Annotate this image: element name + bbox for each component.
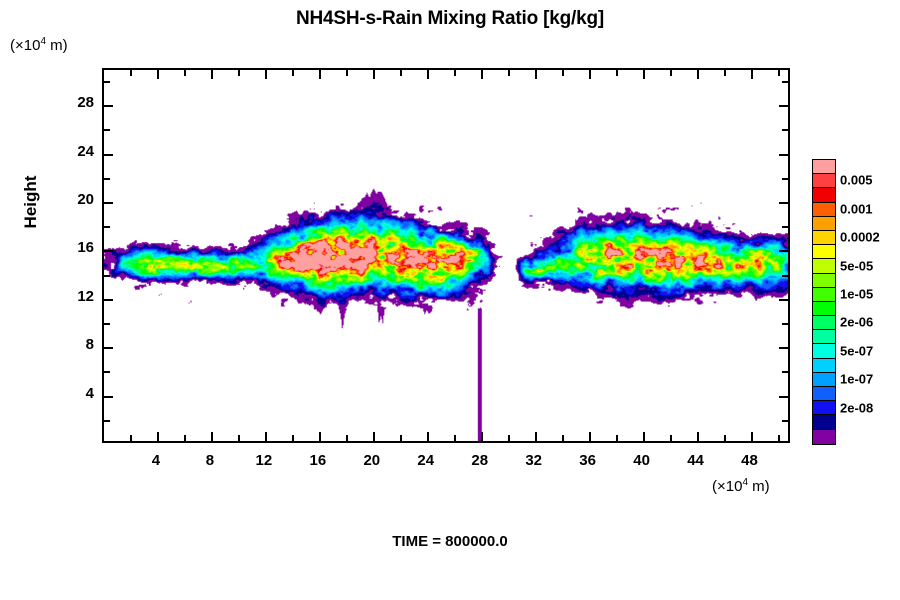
colorbar-tick-label: 5e-07 [840, 343, 873, 358]
y-axis-tick-labels: 481216202428 [52, 68, 94, 443]
x-axis-tick-minor-bottom [778, 435, 780, 441]
x-axis-tick-major [427, 70, 429, 79]
colorbar-band [813, 274, 835, 288]
x-axis-tick-major [751, 70, 753, 79]
x-axis-tick-minor-bottom [616, 435, 618, 441]
y-axis-tick-minor [104, 323, 110, 325]
x-axis-tick-labels: 4812162024283236404448 [102, 452, 790, 474]
colorbar-tick-label: 0.005 [840, 173, 873, 188]
x-axis-tick-major [265, 70, 267, 79]
x-axis-tick-major-bottom [535, 432, 537, 441]
colorbar-band [813, 344, 835, 358]
colorbar-band [813, 430, 835, 444]
colorbar-tick-label: 0.001 [840, 201, 873, 216]
y-axis-tick-major [104, 396, 113, 398]
y-axis-tick-minor-right [782, 129, 788, 131]
colorbar-band [813, 203, 835, 217]
x-axis-tick-minor [292, 70, 294, 76]
y-axis-tick-major [104, 250, 113, 252]
y-unit-prefix: (×10 [10, 37, 40, 54]
x-axis-tick-major-bottom [481, 432, 483, 441]
x-axis-tick-minor [616, 70, 618, 76]
x-axis-tick-minor-bottom [508, 435, 510, 441]
x-axis-tick-label: 36 [579, 452, 596, 469]
y-axis-tick-major [104, 299, 113, 301]
contour-plot-canvas [104, 70, 788, 441]
plot-frame [102, 68, 790, 443]
colorbar-band [813, 231, 835, 245]
colorbar-tick-label: 2e-08 [840, 400, 873, 415]
y-axis-tick-label: 16 [77, 239, 94, 256]
x-axis-tick-major-bottom [589, 432, 591, 441]
x-axis-tick-major-bottom [427, 432, 429, 441]
x-axis-tick-minor-bottom [400, 435, 402, 441]
y-axis-tick-label: 24 [77, 143, 94, 160]
x-axis-tick-minor [562, 70, 564, 76]
colorbar-labels: 0.0050.0010.00025e-051e-052e-065e-071e-0… [840, 159, 900, 445]
colorbar-tick-label: 2e-06 [840, 315, 873, 330]
x-axis-tick-minor [346, 70, 348, 76]
x-axis-tick-minor [454, 70, 456, 76]
x-axis-tick-label: 28 [471, 452, 488, 469]
x-axis-tick-minor-bottom [292, 435, 294, 441]
y-axis-tick-label: 28 [77, 94, 94, 111]
y-axis-tick-minor-right [782, 371, 788, 373]
y-axis-tick-label: 8 [86, 336, 94, 353]
y-axis-tick-major-right [779, 105, 788, 107]
colorbar-tick-label: 1e-05 [840, 286, 873, 301]
x-axis-tick-major [589, 70, 591, 79]
y-axis-tick-minor [104, 129, 110, 131]
x-axis-tick-major-bottom [643, 432, 645, 441]
y-axis-tick-minor-right [782, 420, 788, 422]
x-axis-tick-label: 12 [256, 452, 273, 469]
x-axis-tick-minor [238, 70, 240, 76]
x-axis-tick-major-bottom [157, 432, 159, 441]
colorbar-band [813, 316, 835, 330]
x-axis-tick-major [211, 70, 213, 79]
x-axis-tick-minor-bottom [346, 435, 348, 441]
x-axis-tick-minor [778, 70, 780, 76]
x-axis-tick-label: 44 [687, 452, 704, 469]
x-axis-tick-major [481, 70, 483, 79]
y-axis-tick-minor [104, 81, 110, 83]
colorbar-band [813, 359, 835, 373]
x-axis-tick-minor-bottom [238, 435, 240, 441]
x-axis-tick-major-bottom [697, 432, 699, 441]
y-axis-tick-major-right [779, 396, 788, 398]
y-axis-tick-major-right [779, 154, 788, 156]
y-axis-tick-minor-right [782, 178, 788, 180]
page-title: NH4SH-s-Rain Mixing Ratio [kg/kg] [0, 8, 900, 30]
y-axis-tick-major-right [779, 299, 788, 301]
x-axis-tick-minor-bottom [562, 435, 564, 441]
colorbar-band [813, 217, 835, 231]
y-axis-tick-minor [104, 226, 110, 228]
colorbar-tick-label: 5e-05 [840, 258, 873, 273]
x-axis-tick-minor-bottom [130, 435, 132, 441]
y-axis-tick-major [104, 347, 113, 349]
x-axis-tick-major-bottom [751, 432, 753, 441]
x-axis-tick-minor-bottom [724, 435, 726, 441]
x-axis-tick-major [319, 70, 321, 79]
x-axis-tick-label: 20 [363, 452, 380, 469]
y-axis-tick-major [104, 202, 113, 204]
y-axis-tick-minor-right [782, 323, 788, 325]
x-axis-tick-label: 16 [309, 452, 326, 469]
colorbar-band [813, 330, 835, 344]
x-axis-unit-caption: (×104 m) [712, 477, 770, 495]
colorbar-band [813, 245, 835, 259]
colorbar-band [813, 259, 835, 273]
colorbar-band [813, 401, 835, 415]
colorbar-tick-label: 1e-07 [840, 372, 873, 387]
colorbar-band [813, 188, 835, 202]
x-axis-tick-minor [400, 70, 402, 76]
x-axis-tick-label: 32 [525, 452, 542, 469]
y-axis-tick-minor [104, 371, 110, 373]
y-axis-tick-major-right [779, 250, 788, 252]
colorbar-band [813, 160, 835, 174]
y-axis-tick-minor [104, 420, 110, 422]
colorbar [812, 159, 836, 445]
colorbar-band [813, 373, 835, 387]
x-axis-tick-major-bottom [373, 432, 375, 441]
y-axis-tick-minor [104, 275, 110, 277]
y-axis-tick-label: 20 [77, 191, 94, 208]
x-axis-tick-label: 48 [741, 452, 758, 469]
colorbar-tick-label: 0.0002 [840, 230, 880, 245]
x-unit-suffix: m) [748, 478, 770, 495]
x-axis-tick-major [643, 70, 645, 79]
colorbar-band [813, 302, 835, 316]
x-axis-tick-minor [670, 70, 672, 76]
x-axis-tick-minor [130, 70, 132, 76]
y-axis-tick-major [104, 154, 113, 156]
x-axis-tick-major [157, 70, 159, 79]
x-axis-tick-label: 24 [417, 452, 434, 469]
y-axis-tick-minor-right [782, 226, 788, 228]
y-axis-tick-major-right [779, 202, 788, 204]
x-axis-tick-minor [184, 70, 186, 76]
x-axis-tick-major [373, 70, 375, 79]
colorbar-band [813, 174, 835, 188]
x-axis-tick-major [535, 70, 537, 79]
x-axis-tick-minor [724, 70, 726, 76]
colorbar-band [813, 415, 835, 429]
y-axis-tick-minor-right [782, 81, 788, 83]
x-axis-tick-minor-bottom [184, 435, 186, 441]
time-annotation: TIME = 800000.0 [0, 533, 900, 550]
x-axis-tick-minor-bottom [670, 435, 672, 441]
colorbar-band [813, 288, 835, 302]
y-axis-title: Height [21, 142, 41, 262]
x-axis-tick-label: 8 [206, 452, 214, 469]
y-axis-tick-major [104, 105, 113, 107]
y-axis-tick-label: 12 [77, 288, 94, 305]
x-axis-tick-major-bottom [319, 432, 321, 441]
x-axis-tick-major [697, 70, 699, 79]
y-axis-tick-major-right [779, 347, 788, 349]
y-unit-suffix: m) [46, 37, 68, 54]
y-axis-tick-label: 4 [86, 385, 94, 402]
x-axis-tick-major-bottom [211, 432, 213, 441]
x-axis-tick-minor [508, 70, 510, 76]
x-axis-tick-major-bottom [265, 432, 267, 441]
y-axis-unit-caption: (×104 m) [10, 36, 68, 54]
y-axis-tick-minor [104, 178, 110, 180]
x-axis-tick-label: 4 [152, 452, 160, 469]
x-axis-tick-minor-bottom [454, 435, 456, 441]
y-axis-tick-minor-right [782, 275, 788, 277]
x-unit-prefix: (×10 [712, 478, 742, 495]
x-axis-tick-label: 40 [633, 452, 650, 469]
colorbar-band [813, 387, 835, 401]
